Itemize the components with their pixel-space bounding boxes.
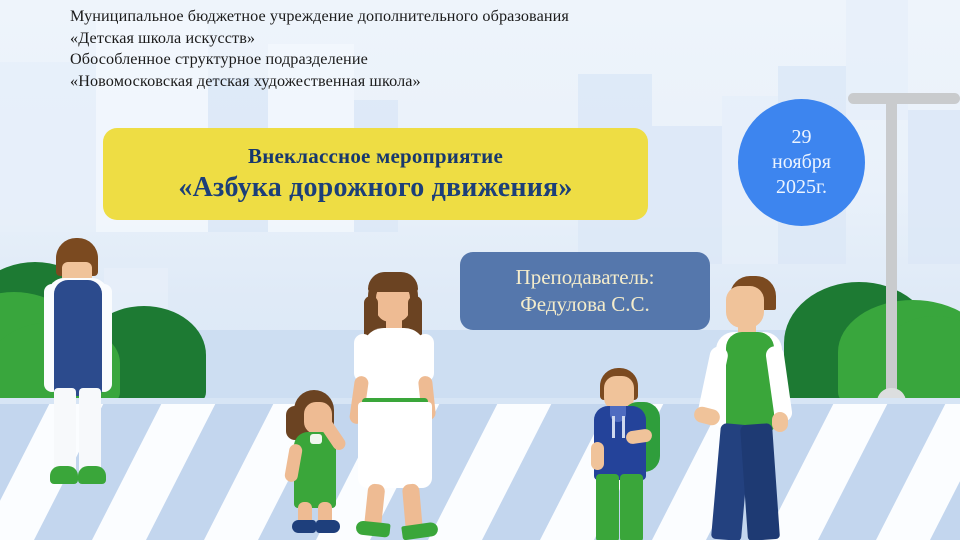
sleeve-left bbox=[354, 334, 372, 382]
teacher-badge-text: Преподаватель: Федулова С.С. bbox=[516, 264, 655, 318]
teacher-badge: Преподаватель: Федулова С.С. bbox=[460, 252, 710, 330]
vest bbox=[54, 280, 102, 396]
date-badge-text: 29 ноября 2025г. bbox=[772, 125, 831, 200]
vest bbox=[726, 332, 774, 432]
shoe bbox=[316, 520, 340, 533]
pant-leg-front bbox=[740, 423, 780, 540]
building-block bbox=[652, 126, 722, 264]
building-block bbox=[908, 110, 960, 264]
organization-name-text: Муниципальное бюджетное учреждение допол… bbox=[70, 6, 770, 92]
event-title: «Азбука дорожного движения» bbox=[178, 172, 572, 204]
pant-leg-left bbox=[596, 474, 619, 540]
event-title-banner: Внеклассное мероприятие «Азбука дорожног… bbox=[103, 128, 648, 220]
figure-boy-with-backpack bbox=[582, 368, 664, 540]
pant-leg-right bbox=[620, 474, 643, 540]
arm-left bbox=[591, 442, 604, 470]
skirt bbox=[358, 402, 432, 488]
road bbox=[0, 404, 960, 540]
hood-string bbox=[622, 416, 625, 438]
crosswalk-stripe bbox=[876, 404, 960, 540]
date-badge: 29 ноября 2025г. bbox=[738, 99, 865, 226]
collar bbox=[310, 434, 322, 444]
figure-girl-green-dress bbox=[280, 390, 352, 538]
figure-woman-white-dress bbox=[338, 272, 450, 530]
poster-canvas: Муниципальное бюджетное учреждение допол… bbox=[0, 0, 960, 540]
event-subtitle: Внеклассное мероприятие bbox=[248, 144, 503, 169]
lamp-arm-icon bbox=[848, 93, 960, 104]
hair-fringe bbox=[368, 272, 418, 292]
figure-man-left-standing bbox=[34, 238, 120, 486]
shoe bbox=[292, 520, 316, 533]
shoe bbox=[50, 466, 78, 484]
hand-right bbox=[772, 412, 788, 432]
shoe bbox=[78, 466, 106, 484]
sleeve-right bbox=[416, 334, 434, 382]
hood-string bbox=[612, 416, 615, 438]
